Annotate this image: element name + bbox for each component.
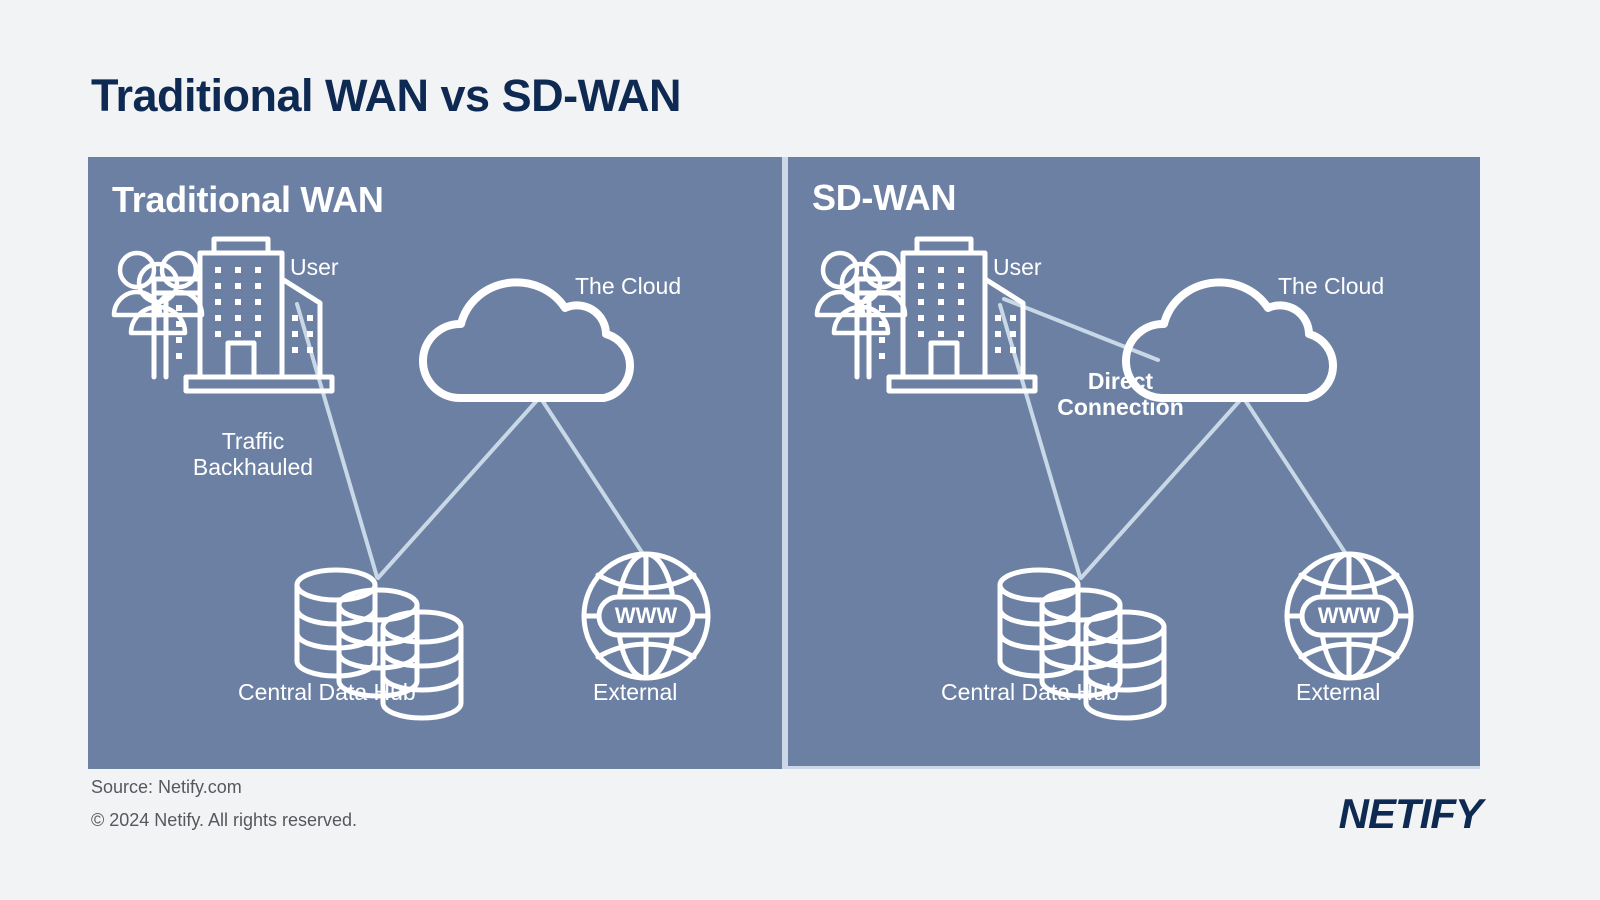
panel-traditional-wan: Traditional WAN: [88, 157, 782, 769]
node-label-external: External: [1296, 680, 1380, 706]
panel-sd-wan: SD-WAN: [788, 157, 1480, 769]
link-cloud-to-external: [1243, 397, 1348, 557]
link-cloud-to-hub: [378, 397, 540, 578]
node-label-external: External: [593, 680, 677, 706]
footer-source: Source: Netify.com: [91, 777, 242, 798]
annotation-line-2: Backhauled: [178, 455, 328, 481]
netify-logo: NETIFY: [1339, 790, 1482, 838]
annotation-traffic-backhauled: Traffic Backhauled: [178, 429, 328, 481]
diagram-sd-wan: WWW: [788, 157, 1480, 766]
link-user-to-hub: [1000, 305, 1080, 577]
infographic-root: Traditional WAN vs SD-WAN Traditional WA…: [0, 0, 1600, 900]
annotation-direct-connection: Direct Connection: [1038, 369, 1203, 421]
link-user-to-cloud: [1004, 299, 1158, 360]
node-label-hub: Central Data Hub: [238, 680, 416, 706]
link-cloud-to-hub: [1081, 397, 1243, 578]
connector-group: [1000, 299, 1348, 578]
annotation-line-1: Traffic: [178, 429, 328, 455]
globe-www-badge: WWW: [1318, 603, 1381, 628]
node-label-user: User: [290, 255, 339, 281]
globe-www-badge: WWW: [615, 603, 678, 628]
node-label-cloud: The Cloud: [1278, 274, 1384, 300]
node-label-hub: Central Data Hub: [941, 680, 1119, 706]
footer-copyright: © 2024 Netify. All rights reserved.: [91, 810, 357, 831]
connector-group: [297, 304, 645, 578]
page-title: Traditional WAN vs SD-WAN: [91, 70, 681, 122]
annotation-line-1: Direct: [1038, 369, 1203, 395]
panel-container: Traditional WAN: [88, 157, 1480, 769]
link-cloud-to-external: [540, 397, 645, 557]
node-label-user: User: [993, 255, 1042, 281]
annotation-line-2: Connection: [1038, 395, 1203, 421]
node-label-cloud: The Cloud: [575, 274, 681, 300]
